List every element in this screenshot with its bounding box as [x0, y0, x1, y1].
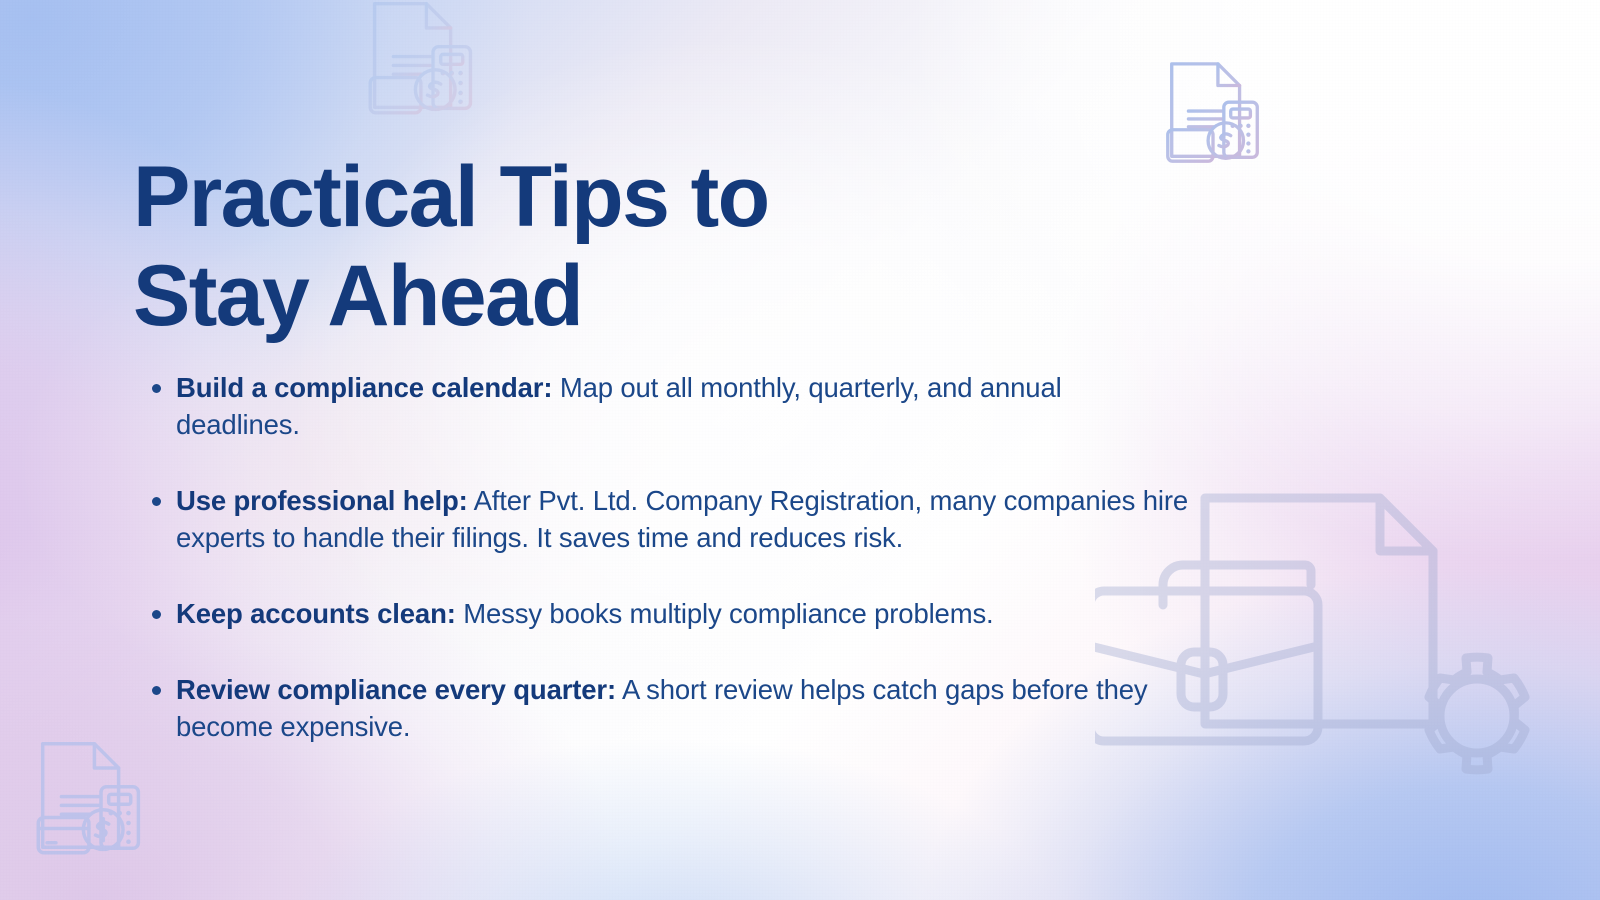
page-title-line-1: Practical Tips to [133, 148, 913, 247]
list-item-lead: Build a compliance calendar: [176, 372, 552, 403]
list-item: Use professional help: After Pvt. Ltd. C… [146, 482, 1238, 556]
page-title: Practical Tips to Stay Ahead [133, 148, 913, 346]
bullet-dot-icon [152, 610, 161, 619]
list-item: Build a compliance calendar: Map out all… [146, 369, 1081, 443]
slide-canvas: Practical Tips to Stay Ahead Build a com… [0, 0, 1600, 900]
list-item: Keep accounts clean: Messy books multipl… [146, 595, 1176, 632]
bullet-dot-icon [152, 497, 161, 506]
tips-list: Build a compliance calendar: Map out all… [146, 369, 1236, 745]
list-item-lead: Use professional help: [176, 485, 468, 516]
list-item-lead: Keep accounts clean: [176, 598, 456, 629]
list-item-lead: Review compliance every quarter: [176, 674, 616, 705]
bullet-dot-icon [152, 686, 161, 695]
list-item-body: Messy books multiply compliance problems… [456, 598, 994, 629]
slide-content: Practical Tips to Stay Ahead Build a com… [0, 0, 1600, 900]
bullet-dot-icon [152, 384, 161, 393]
list-item: Review compliance every quarter: A short… [146, 671, 1238, 745]
page-title-line-2: Stay Ahead [133, 247, 913, 346]
